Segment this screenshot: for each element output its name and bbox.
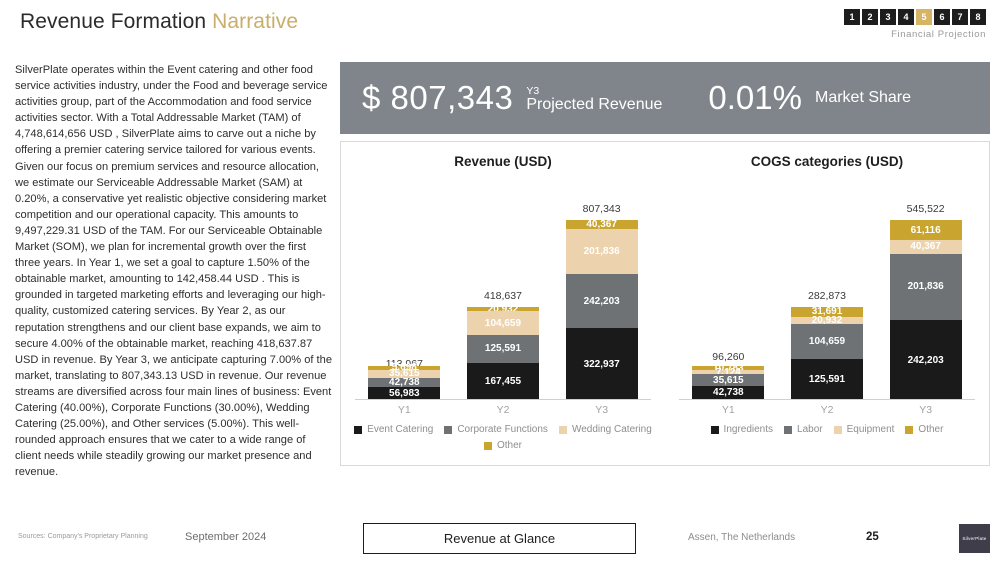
- x-tick-Y3: Y3: [566, 404, 638, 416]
- bar-segment: 35,615: [692, 374, 764, 386]
- kpi-market-share-label: Market Share: [815, 89, 911, 107]
- page-indicator-3[interactable]: 3: [880, 9, 896, 25]
- page-indicator-5[interactable]: 5: [916, 9, 932, 25]
- kpi-revenue-caption: Projected Revenue: [526, 98, 662, 112]
- bar-total-label: 418,637: [484, 290, 522, 302]
- legend-label: Event Catering: [367, 424, 433, 435]
- bar-Y2[interactable]: 282,87331,69120,932104,659125,591: [791, 186, 863, 400]
- charts-container: Revenue (USD)113,9675,69835,61542,73856,…: [341, 142, 989, 465]
- kpi-revenue-amount: $ 807,343: [362, 79, 513, 117]
- x-tick-Y1: Y1: [692, 404, 764, 416]
- chart-legend: IngredientsLaborEquipmentOther: [673, 424, 981, 435]
- page-indicator-6[interactable]: 6: [934, 9, 950, 25]
- legend-label: Corporate Functions: [457, 424, 548, 435]
- chart-revenue: Revenue (USD)113,9675,69835,61542,73856,…: [341, 142, 665, 465]
- x-tick-Y1: Y1: [368, 404, 440, 416]
- bar-segment: 104,659: [791, 324, 863, 359]
- page-indicator-8[interactable]: 8: [970, 9, 986, 25]
- page-indicator-label: Financial Projection: [891, 29, 986, 40]
- legend-item[interactable]: Equipment: [834, 424, 895, 435]
- bar-segment-label: 242,203: [908, 355, 944, 366]
- bar-segment-label: 56,983: [389, 388, 420, 399]
- legend-item[interactable]: Other: [905, 424, 943, 435]
- legend-swatch-icon: [354, 426, 362, 434]
- bars: 113,9675,69835,61542,73856,983418,63720,…: [355, 186, 651, 400]
- page-title-main: Revenue Formation: [20, 10, 206, 33]
- bar-segment: 201,836: [566, 229, 638, 274]
- bar-segment-label: 125,591: [809, 374, 845, 385]
- bar-segment: 201,836: [890, 254, 962, 321]
- bar-segment: 167,455: [467, 363, 539, 400]
- page-indicator[interactable]: 12345678: [844, 9, 986, 25]
- page-indicator-7[interactable]: 7: [952, 9, 968, 25]
- bar-segment-label: 40,367: [910, 241, 941, 252]
- bar-segment-label: 42,738: [713, 387, 744, 398]
- legend-swatch-icon: [711, 426, 719, 434]
- footer-section-label: Revenue at Glance: [363, 523, 636, 554]
- bar-segment: 104,659: [467, 311, 539, 334]
- chart-cogs: COGS categories (USD)96,26010,7837,12435…: [665, 142, 989, 465]
- page-indicator-1[interactable]: 1: [844, 9, 860, 25]
- legend-item[interactable]: Other: [484, 440, 522, 451]
- bar-Y3[interactable]: 807,34340,367201,836242,203322,937: [566, 186, 638, 400]
- bar-segment-label: 242,203: [584, 296, 620, 307]
- legend-swatch-icon: [559, 426, 567, 434]
- bar-segment: 20,932: [791, 317, 863, 324]
- bar-segment: 42,738: [368, 378, 440, 388]
- page-indicator-4[interactable]: 4: [898, 9, 914, 25]
- bar-Y1[interactable]: 113,9675,69835,61542,73856,983: [368, 186, 440, 400]
- footer-location: Assen, The Netherlands: [688, 532, 795, 543]
- bar-segment: 322,937: [566, 328, 638, 400]
- legend-label: Other: [918, 424, 943, 435]
- slide: Revenue Formation Narrative 12345678 Fin…: [0, 0, 1000, 564]
- x-tick-labels: Y1Y2Y3: [679, 404, 975, 416]
- bar-segment-label: 167,455: [485, 376, 521, 387]
- page-title: Revenue Formation Narrative: [20, 10, 298, 34]
- x-tick-Y2: Y2: [467, 404, 539, 416]
- bar-Y3[interactable]: 545,52261,11640,367201,836242,203: [890, 186, 962, 400]
- plot-area: 113,9675,69835,61542,73856,983418,63720,…: [355, 186, 651, 400]
- legend-item[interactable]: Event Catering: [354, 424, 433, 435]
- bar-segment-label: 201,836: [908, 281, 944, 292]
- kpi-revenue-label: Y3 Projected Revenue: [526, 84, 662, 112]
- legend-label: Equipment: [847, 424, 895, 435]
- bar-segment-label: 61,116: [911, 225, 941, 236]
- bar-total-label: 545,522: [907, 203, 945, 215]
- bar-segment-label: 104,659: [485, 318, 521, 329]
- chart-legend: Event CateringCorporate FunctionsWedding…: [349, 424, 657, 451]
- bar-segment-label: 35,615: [713, 375, 744, 386]
- bar-total-label: 96,260: [712, 351, 744, 363]
- bar-Y2[interactable]: 418,63720,932104,659125,591167,455: [467, 186, 539, 400]
- bar-segment: 61,116: [890, 220, 962, 240]
- x-tick-Y2: Y2: [791, 404, 863, 416]
- narrative-text: SilverPlate operates within the Event ca…: [15, 62, 333, 480]
- bar-segment: 242,203: [566, 274, 638, 328]
- legend-swatch-icon: [784, 426, 792, 434]
- page-title-accent: Narrative: [212, 10, 298, 33]
- legend-label: Wedding Catering: [572, 424, 652, 435]
- footer-sources: Sources: Company's Proprietary Planning: [18, 533, 148, 540]
- legend-swatch-icon: [834, 426, 842, 434]
- charts-panel: Revenue (USD)113,9675,69835,61542,73856,…: [340, 141, 990, 466]
- bar-total-label: 282,873: [808, 290, 846, 302]
- legend-item[interactable]: Labor: [784, 424, 823, 435]
- x-tick-labels: Y1Y2Y3: [355, 404, 651, 416]
- footer-page-number: 25: [866, 531, 879, 543]
- legend-swatch-icon: [484, 442, 492, 450]
- legend-item[interactable]: Corporate Functions: [444, 424, 548, 435]
- bar-segment-label: 104,659: [809, 336, 845, 347]
- bar-segment-label: 125,591: [485, 343, 521, 354]
- x-tick-Y3: Y3: [890, 404, 962, 416]
- legend-label: Other: [497, 440, 522, 451]
- chart-title: Revenue (USD): [341, 154, 665, 169]
- bar-segment: 125,591: [791, 359, 863, 400]
- bar-segment: 40,367: [566, 220, 638, 229]
- x-axis: [355, 399, 651, 400]
- x-axis: [679, 399, 975, 400]
- footer-date: September 2024: [185, 531, 266, 543]
- bar-Y1[interactable]: 96,26010,7837,12435,61542,738: [692, 186, 764, 400]
- bars: 96,26010,7837,12435,61542,738282,87331,6…: [679, 186, 975, 400]
- legend-label: Ingredients: [724, 424, 773, 435]
- bar-segment: 42,738: [692, 386, 764, 400]
- kpi-banner: $ 807,343 Y3 Projected Revenue 0.01% Mar…: [340, 62, 990, 134]
- page-indicator-2[interactable]: 2: [862, 9, 878, 25]
- kpi-market-share-value: 0.01%: [708, 79, 802, 117]
- legend-item[interactable]: Wedding Catering: [559, 424, 652, 435]
- bar-segment: 40,367: [890, 240, 962, 253]
- chart-title: COGS categories (USD): [665, 154, 989, 169]
- plot-area: 96,26010,7837,12435,61542,738282,87331,6…: [679, 186, 975, 400]
- legend-swatch-icon: [905, 426, 913, 434]
- legend-swatch-icon: [444, 426, 452, 434]
- bar-segment: 125,591: [467, 335, 539, 363]
- company-logo: SilverPlate: [959, 524, 990, 553]
- legend-item[interactable]: Ingredients: [711, 424, 773, 435]
- bar-segment: 242,203: [890, 320, 962, 400]
- bar-segment-label: 201,836: [584, 246, 620, 257]
- bar-total-label: 807,343: [583, 203, 621, 215]
- legend-label: Labor: [797, 424, 823, 435]
- bar-segment-label: 322,937: [584, 359, 620, 370]
